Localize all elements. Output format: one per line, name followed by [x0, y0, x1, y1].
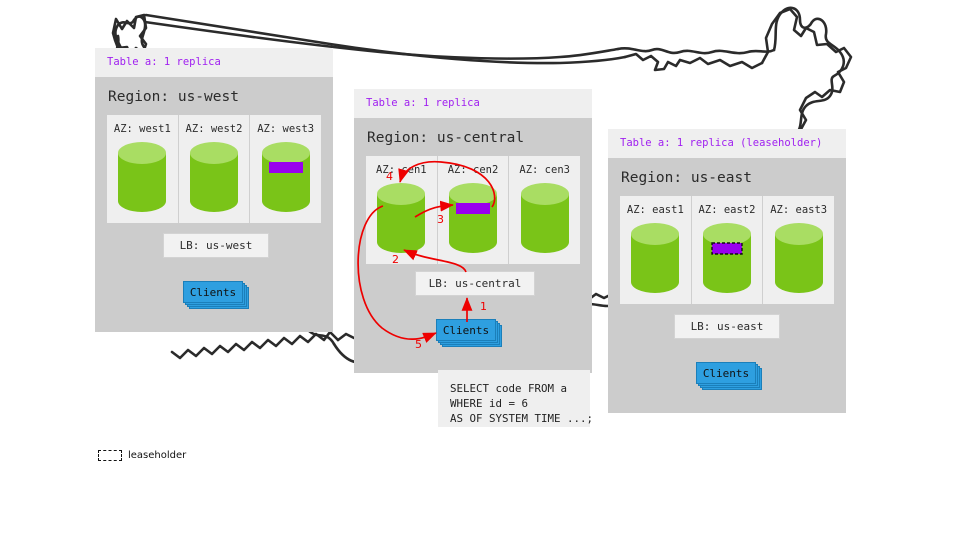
clients-label-us-west[interactable]: Clients [183, 281, 243, 303]
az-label-cen1: AZ: cen1 [366, 164, 437, 176]
az-label-cen3: AZ: cen3 [509, 164, 580, 176]
cylinder-east1 [620, 222, 691, 294]
database-cylinder-icon [188, 141, 240, 213]
az-cell-west1[interactable]: AZ: west1 [107, 115, 179, 223]
az-cell-west2[interactable]: AZ: west2 [179, 115, 251, 223]
database-cylinder-icon [701, 222, 753, 294]
region-panel-us-central: Table a: 1 replica Region: us-central AZ… [354, 89, 592, 373]
clients-us-central[interactable]: Clients [436, 319, 502, 347]
az-cell-cen1[interactable]: AZ: cen1 [366, 156, 438, 264]
az-label-west3: AZ: west3 [250, 123, 321, 135]
database-cylinder-icon [260, 141, 312, 213]
region-header-us-central: Table a: 1 replica [354, 89, 592, 118]
az-label-east2: AZ: east2 [692, 204, 763, 216]
az-cell-east3[interactable]: AZ: east3 [763, 196, 834, 304]
diagram-canvas: Table a: 1 replica Region: us-west AZ: w… [0, 0, 960, 540]
az-row-us-west: AZ: west1 AZ: west2 AZ: [107, 115, 321, 223]
cylinder-east2 [692, 222, 763, 294]
clients-us-east[interactable]: Clients [696, 362, 762, 390]
legend-label: leaseholder [128, 450, 186, 461]
az-label-west2: AZ: west2 [179, 123, 250, 135]
replica-marker [269, 162, 303, 173]
replica-marker-leaseholder [712, 243, 742, 254]
load-balancer-us-east[interactable]: LB: us-east [674, 314, 780, 339]
sql-query-box: SELECT code FROM a WHERE id = 6 AS OF SY… [438, 370, 590, 427]
clients-us-west[interactable]: Clients [183, 281, 249, 309]
clients-label-us-central[interactable]: Clients [436, 319, 496, 341]
region-title-us-east: Region: us-east [608, 158, 846, 196]
az-label-east3: AZ: east3 [763, 204, 834, 216]
cylinder-west3 [250, 141, 321, 213]
az-label-west1: AZ: west1 [107, 123, 178, 135]
cylinder-cen3 [509, 182, 580, 254]
database-cylinder-icon [116, 141, 168, 213]
sql-line-2: WHERE id = 6 [450, 397, 528, 410]
az-cell-cen3[interactable]: AZ: cen3 [509, 156, 580, 264]
load-balancer-us-central[interactable]: LB: us-central [415, 271, 535, 296]
cylinder-east3 [763, 222, 834, 294]
replica-marker [456, 203, 490, 214]
az-cell-cen2[interactable]: AZ: cen2 [438, 156, 510, 264]
region-panel-us-west: Table a: 1 replica Region: us-west AZ: w… [95, 48, 333, 332]
region-header-us-east: Table a: 1 replica (leaseholder) [608, 129, 846, 158]
region-panel-us-east: Table a: 1 replica (leaseholder) Region:… [608, 129, 846, 413]
region-header-us-west: Table a: 1 replica [95, 48, 333, 77]
cylinder-cen2 [438, 182, 509, 254]
clients-label-us-east[interactable]: Clients [696, 362, 756, 384]
az-cell-east2[interactable]: AZ: east2 [692, 196, 764, 304]
sql-line-1: SELECT code FROM a [450, 382, 567, 395]
legend: leaseholder [98, 450, 186, 461]
az-cell-west3[interactable]: AZ: west3 [250, 115, 321, 223]
database-cylinder-icon [519, 182, 571, 254]
database-cylinder-icon [447, 182, 499, 254]
az-row-us-central: AZ: cen1 AZ: cen2 [366, 156, 580, 264]
region-title-us-west: Region: us-west [95, 77, 333, 115]
cylinder-west2 [179, 141, 250, 213]
cylinder-cen1 [366, 182, 437, 254]
database-cylinder-icon [773, 222, 825, 294]
load-balancer-us-west[interactable]: LB: us-west [163, 233, 269, 258]
sql-line-3: AS OF SYSTEM TIME ...; [450, 412, 593, 425]
az-cell-east1[interactable]: AZ: east1 [620, 196, 692, 304]
database-cylinder-icon [629, 222, 681, 294]
database-cylinder-icon [375, 182, 427, 254]
az-label-east1: AZ: east1 [620, 204, 691, 216]
leaseholder-swatch-icon [98, 450, 122, 461]
cylinder-west1 [107, 141, 178, 213]
region-title-us-central: Region: us-central [354, 118, 592, 156]
az-row-us-east: AZ: east1 AZ: east2 [620, 196, 834, 304]
az-label-cen2: AZ: cen2 [438, 164, 509, 176]
